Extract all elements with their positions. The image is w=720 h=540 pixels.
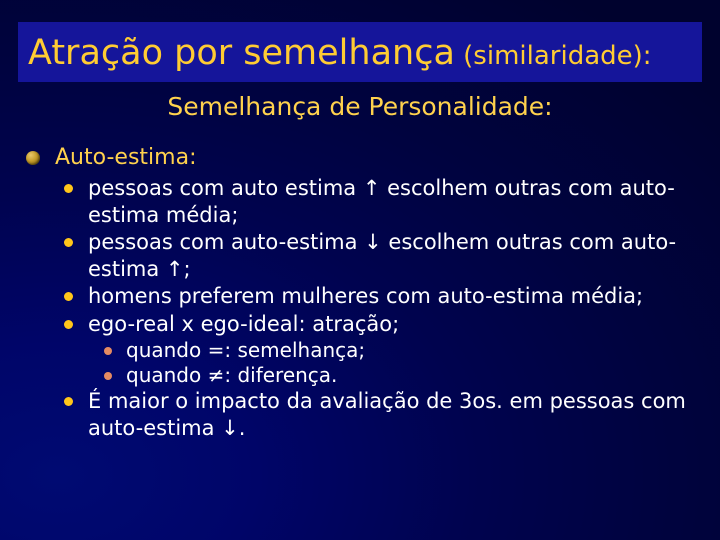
outline-item-label: pessoas com auto estima ↑ escolhem outra… — [88, 176, 675, 227]
outline-item-level2: pessoas com auto-estima ↓ escolhem outra… — [0, 229, 720, 282]
slide-subtitle: Semelhança de Personalidade: — [0, 92, 720, 121]
outline-item-level1: Auto-estima: — [0, 144, 720, 172]
outline-item-label: pessoas com auto-estima ↓ escolhem outra… — [88, 230, 676, 281]
dot-bullet-icon — [64, 238, 73, 247]
dot-bullet-icon — [64, 184, 73, 193]
outline-item-label: homens preferem mulheres com auto-estima… — [88, 284, 643, 308]
dot-bullet-icon — [64, 320, 73, 329]
dot-bullet-icon — [64, 292, 73, 301]
outline-item-label: É maior o impacto da avaliação de 3os. e… — [88, 389, 686, 440]
outline-item-level3: quando =: semelhança; — [0, 338, 720, 363]
outline-item-label: Auto-estima: — [55, 145, 197, 170]
dot-bullet-icon — [104, 347, 112, 355]
presentation-slide: Atração por semelhança (similaridade): S… — [0, 0, 720, 540]
dot-bullet-icon — [104, 372, 112, 380]
outline-item-label: quando ≠: diferença. — [126, 363, 337, 387]
slide-title-main: Atração por semelhança — [28, 33, 455, 73]
slide-title: Atração por semelhança (similaridade): — [28, 24, 708, 82]
outline-item-label: ego-real x ego-ideal: atração; — [88, 312, 399, 336]
slide-title-suffix: (similaridade): — [455, 41, 652, 71]
outline-item-level2: homens preferem mulheres com auto-estima… — [0, 283, 720, 310]
outline-item-level2: É maior o impacto da avaliação de 3os. e… — [0, 388, 720, 441]
outline-item-level3: quando ≠: diferença. — [0, 363, 720, 388]
outline-item-label: quando =: semelhança; — [126, 338, 365, 362]
outline-item-level2: pessoas com auto estima ↑ escolhem outra… — [0, 175, 720, 228]
outline-item-level2: ego-real x ego-ideal: atração; — [0, 311, 720, 338]
sphere-bullet-icon — [26, 151, 40, 165]
dot-bullet-icon — [64, 397, 73, 406]
slide-body-outline: Auto-estima: pessoas com auto estima ↑ e… — [0, 144, 720, 442]
